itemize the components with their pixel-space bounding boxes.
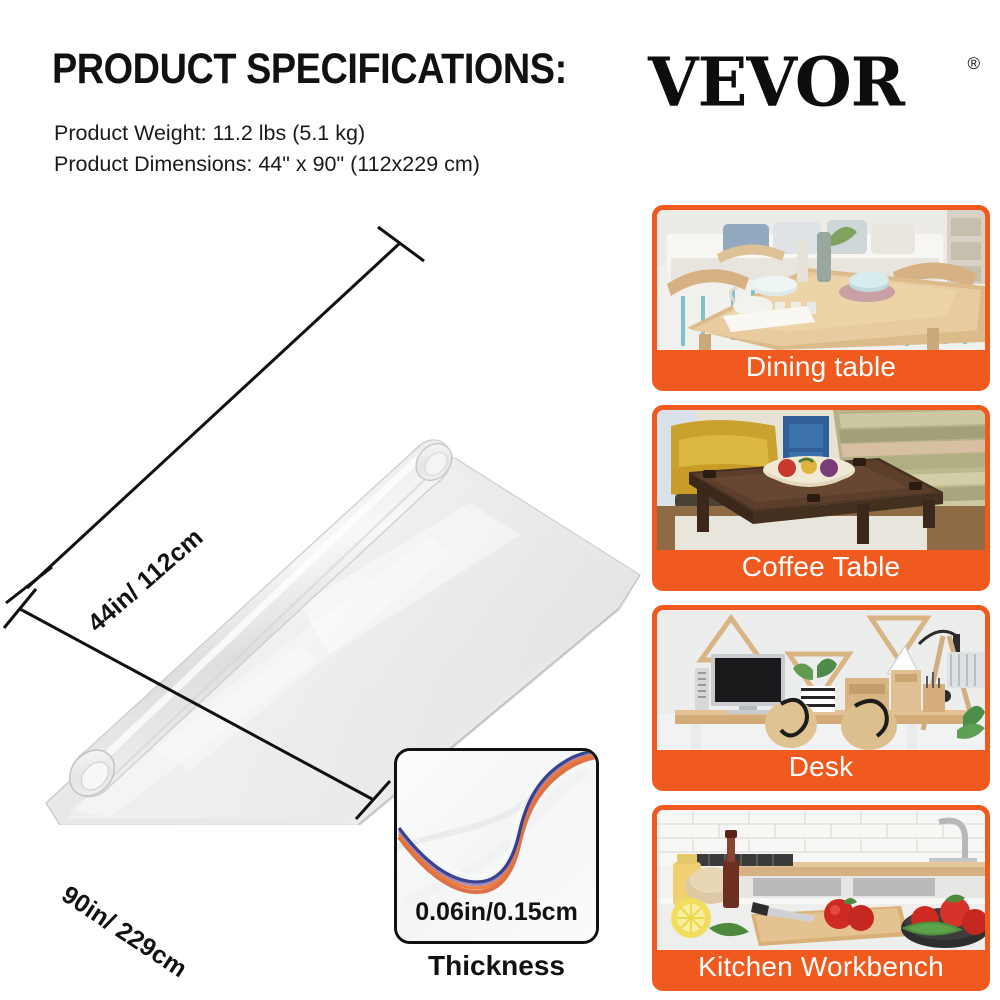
vevor-logo: VEVOR ® bbox=[648, 50, 978, 114]
use-case-card-kitchen-workbench[interactable]: Kitchen Workbench bbox=[652, 805, 990, 991]
spec-dimensions: Product Dimensions: 44" x 90" (112x229 c… bbox=[54, 149, 480, 180]
use-case-card-desk[interactable]: Desk bbox=[652, 605, 990, 791]
thickness-value: 0.06in/0.15cm bbox=[397, 898, 596, 927]
coffee-table-photo bbox=[657, 410, 985, 550]
use-case-card-list: Dining table bbox=[652, 205, 990, 997]
dimension-label-length: 90in/ 229cm bbox=[56, 880, 192, 984]
registered-trademark-icon: ® bbox=[967, 54, 980, 74]
page-title: PRODUCT SPECIFICATIONS: bbox=[52, 48, 567, 91]
use-case-label: Desk bbox=[652, 745, 990, 791]
desk-photo bbox=[657, 610, 985, 750]
use-case-label: Kitchen Workbench bbox=[652, 945, 990, 991]
pvc-sheet-graphic bbox=[0, 185, 650, 825]
use-case-label: Dining table bbox=[652, 345, 990, 391]
use-case-label: Coffee Table bbox=[652, 545, 990, 591]
thickness-detail-inset: 0.06in/0.15cm bbox=[394, 748, 599, 944]
product-spec-infographic: PRODUCT SPECIFICATIONS: Product Weight: … bbox=[0, 0, 1000, 1000]
spec-list: Product Weight: 11.2 lbs (5.1 kg) Produc… bbox=[54, 118, 480, 179]
use-case-card-dining-table[interactable]: Dining table bbox=[652, 205, 990, 391]
brand-wordmark: VEVOR bbox=[648, 50, 985, 117]
spec-weight: Product Weight: 11.2 lbs (5.1 kg) bbox=[54, 118, 480, 149]
kitchen-workbench-photo bbox=[657, 810, 985, 950]
thickness-caption: Thickness bbox=[394, 950, 599, 982]
dining-table-photo bbox=[657, 210, 985, 350]
use-case-card-coffee-table[interactable]: Coffee Table bbox=[652, 405, 990, 591]
product-illustration: 44in/ 112cm 90in/ 229cm bbox=[0, 185, 650, 825]
